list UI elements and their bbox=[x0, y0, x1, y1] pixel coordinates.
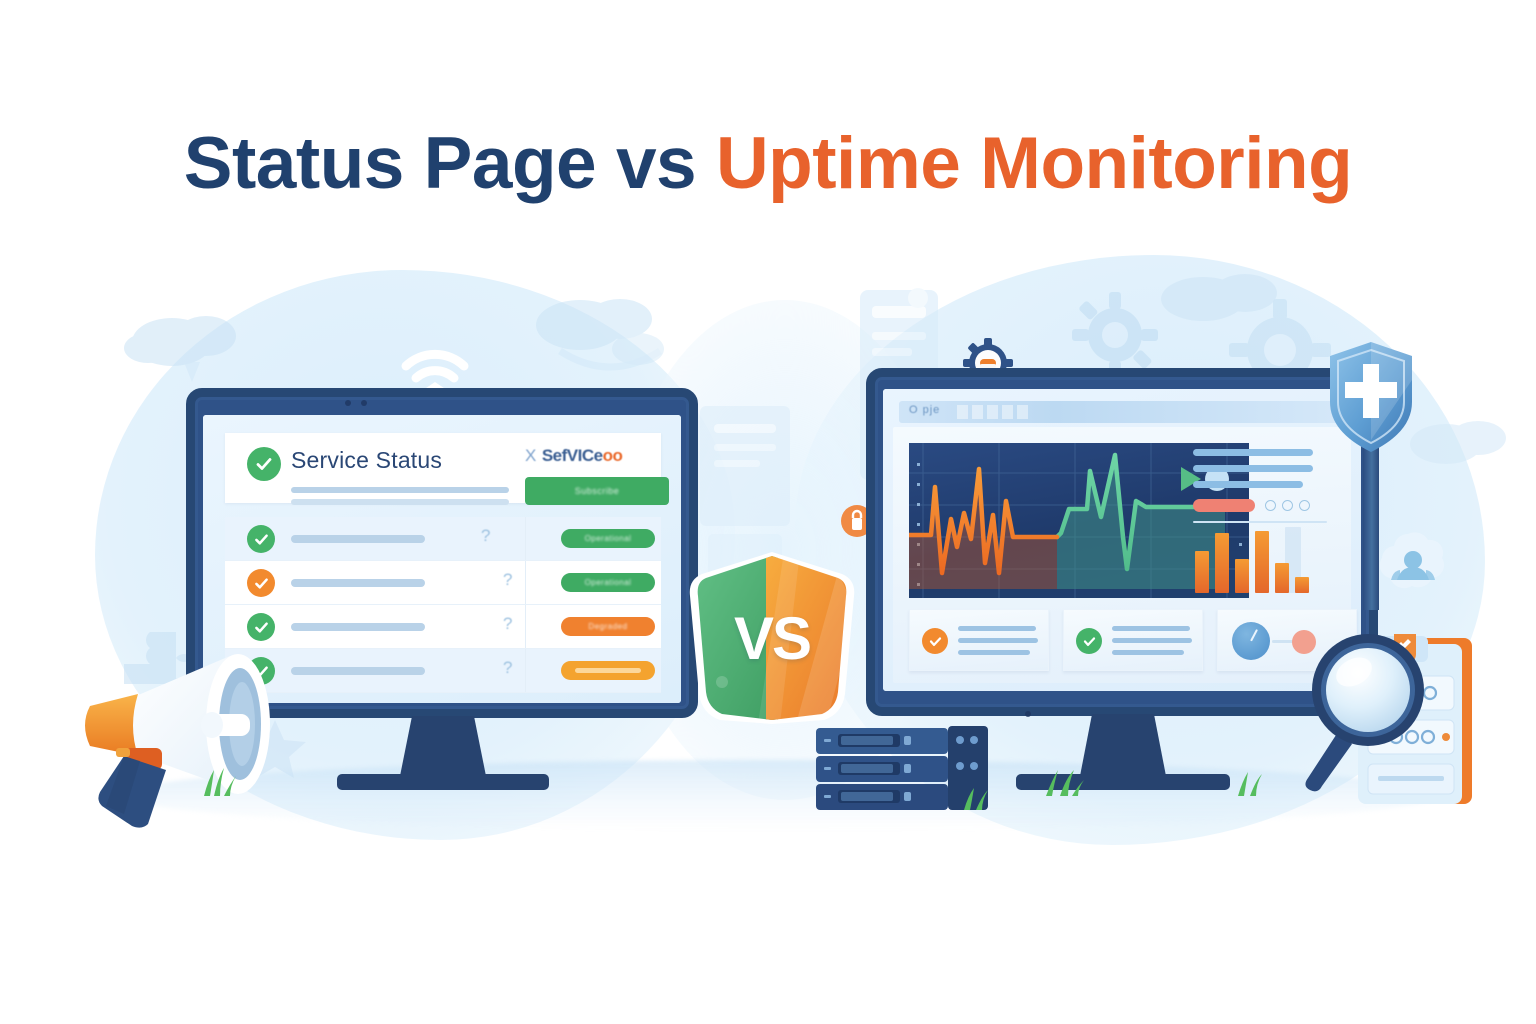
cloud-silhouette-icon bbox=[1400, 400, 1520, 480]
brand-logo: XSefVICeoo bbox=[525, 446, 622, 466]
grass-decoration bbox=[960, 784, 1000, 810]
vs-badge: VS bbox=[688, 552, 856, 724]
status-badge bbox=[561, 661, 655, 680]
connector-line bbox=[1272, 640, 1294, 643]
dashboard-content bbox=[893, 427, 1351, 683]
check-circle-icon bbox=[1076, 628, 1102, 654]
grass-decoration bbox=[198, 766, 238, 796]
placeholder-bar bbox=[291, 579, 425, 587]
magnifier-icon bbox=[1292, 628, 1442, 793]
monitoring-dashboard-app: O pje bbox=[883, 389, 1361, 691]
alert-pill bbox=[1193, 499, 1255, 512]
brand-suffix: oo bbox=[603, 446, 623, 465]
webcam-dot-icon bbox=[361, 400, 367, 406]
placeholder-bar bbox=[1112, 626, 1190, 631]
dashboard-side-panel bbox=[1187, 443, 1337, 598]
vs-badge-label: VS bbox=[688, 552, 856, 724]
check-circle-icon bbox=[922, 628, 948, 654]
row-divider bbox=[525, 517, 526, 560]
left-monitor-stand-base bbox=[337, 774, 549, 790]
status-badge-label: Degraded bbox=[588, 622, 627, 631]
placeholder-bar bbox=[1112, 650, 1184, 655]
title-part-navy: Status Page vs bbox=[184, 123, 696, 204]
right-screen: O pje bbox=[883, 389, 1361, 691]
placeholder-bar bbox=[958, 650, 1030, 655]
placeholder-bar bbox=[291, 535, 425, 543]
bar-chart-bar bbox=[1255, 531, 1269, 593]
brand-x-mark: X bbox=[525, 446, 536, 465]
placeholder-bar bbox=[1193, 465, 1313, 472]
cloud-silhouette-icon bbox=[1145, 255, 1305, 335]
megaphone-icon bbox=[62, 628, 322, 833]
table-row[interactable]: ? Operational bbox=[225, 561, 661, 605]
placeholder-bar bbox=[958, 626, 1036, 631]
status-question-mark: ? bbox=[503, 658, 512, 678]
row-divider bbox=[525, 561, 526, 604]
toggle-ring-icon[interactable] bbox=[1299, 500, 1310, 511]
status-badge: Operational bbox=[561, 573, 655, 592]
title-part-orange: Uptime Monitoring bbox=[716, 123, 1352, 204]
placeholder-bar bbox=[958, 638, 1038, 643]
bar-chart-bar bbox=[1275, 563, 1289, 593]
bar-chart-bar bbox=[1195, 551, 1209, 593]
webcam-dot-icon bbox=[345, 400, 351, 406]
table-row[interactable]: ? Operational bbox=[225, 517, 661, 561]
status-badge-label: Operational bbox=[585, 578, 632, 587]
row-divider bbox=[525, 605, 526, 648]
cloud-silhouette-icon bbox=[120, 300, 270, 390]
bar-chart-bar bbox=[1235, 559, 1249, 593]
placeholder-bar bbox=[291, 499, 509, 505]
check-circle-icon bbox=[247, 447, 281, 481]
url-placeholder-blocks bbox=[957, 405, 1028, 419]
check-circle-icon bbox=[247, 569, 275, 597]
grass-decoration bbox=[1040, 766, 1086, 796]
power-dot-icon bbox=[1025, 711, 1031, 717]
bar-chart-bar bbox=[1295, 577, 1309, 593]
status-badge: Operational bbox=[561, 529, 655, 548]
status-badge-inner-bar bbox=[575, 668, 641, 673]
avatar-bubble-icon bbox=[1376, 530, 1450, 604]
gauge-icon bbox=[1232, 622, 1270, 660]
illustration-canvas: Status Page vs Uptime Monitoring bbox=[0, 0, 1536, 1024]
left-monitor-stand-neck bbox=[400, 716, 486, 776]
row-divider bbox=[525, 649, 526, 692]
cloud-silhouette-icon bbox=[520, 285, 690, 395]
browser-url-bar[interactable]: O pje bbox=[899, 401, 1345, 423]
status-badge: Degraded bbox=[561, 617, 655, 636]
subscribe-button[interactable]: Subscribe bbox=[525, 477, 669, 505]
status-question-mark: ? bbox=[481, 526, 490, 546]
placeholder-bar bbox=[1193, 449, 1313, 456]
status-question-mark: ? bbox=[503, 570, 512, 590]
grass-decoration bbox=[1232, 768, 1272, 796]
placeholder-bar bbox=[1112, 638, 1192, 643]
status-question-mark: ? bbox=[503, 614, 512, 634]
toggle-ring-icon[interactable] bbox=[1265, 500, 1276, 511]
status-page-header-card: Service Status XSefVICeoo Subscribe bbox=[225, 433, 661, 503]
subscribe-button-label: Subscribe bbox=[575, 486, 620, 496]
placeholder-bar bbox=[1193, 481, 1303, 488]
right-monitor-stand-neck bbox=[1080, 714, 1166, 776]
shield-cross-icon bbox=[1326, 340, 1416, 455]
placeholder-bar bbox=[291, 487, 509, 493]
brand-name: SefVICe bbox=[542, 446, 603, 465]
bar-chart-bar bbox=[1215, 533, 1229, 593]
stat-card[interactable] bbox=[1063, 609, 1203, 671]
status-badge-label: Operational bbox=[585, 534, 632, 543]
page-title: Status Page vs Uptime Monitoring bbox=[0, 122, 1536, 205]
toggle-ring-icon[interactable] bbox=[1282, 500, 1293, 511]
divider bbox=[1193, 521, 1327, 523]
stat-card[interactable] bbox=[909, 609, 1049, 671]
url-text: O pje bbox=[909, 404, 940, 416]
check-circle-icon bbox=[247, 525, 275, 553]
status-page-title: Service Status bbox=[291, 447, 442, 474]
